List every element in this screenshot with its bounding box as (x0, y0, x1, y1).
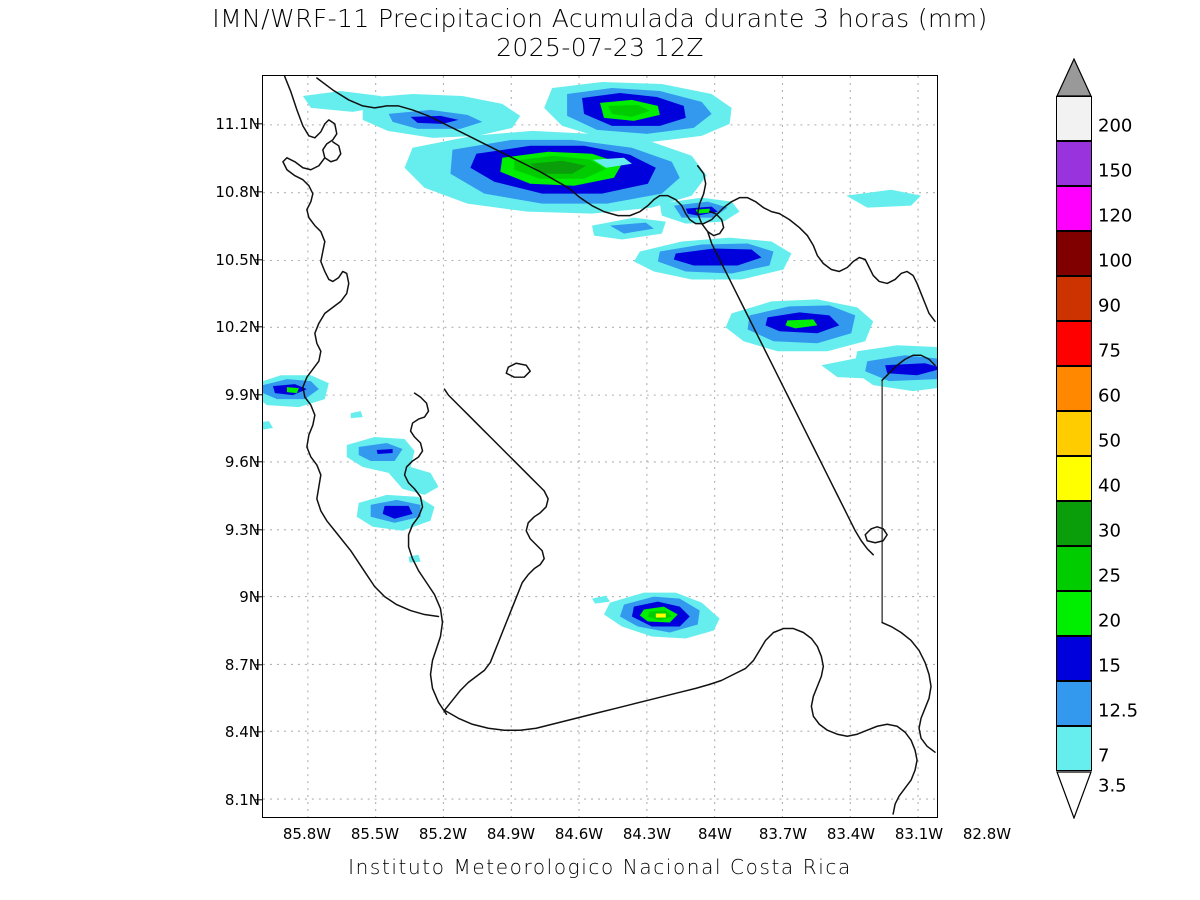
colorbar-under-arrow-icon (1056, 771, 1092, 819)
colorbar-segment-200 (1056, 96, 1092, 141)
colorbar-label-30: 30 (1098, 521, 1121, 542)
colorbar-label-90: 90 (1098, 296, 1121, 317)
colorbar-label-200: 200 (1098, 116, 1132, 137)
colorbar-segment-75 (1056, 321, 1092, 366)
colorbar-label-150: 150 (1098, 161, 1132, 182)
x-axis: 85.8W 85.5W 85.2W 84.9W 84.6W 84.3W 84W … (0, 0, 1200, 900)
colorbar-segment-30 (1056, 501, 1092, 546)
colorbar-label-100: 100 (1098, 251, 1132, 272)
colorbar-label-25: 25 (1098, 566, 1121, 587)
colorbar-segment-100 (1056, 231, 1092, 276)
colorbar-segment-150 (1056, 141, 1092, 186)
colorbar-segment-120 (1056, 186, 1092, 231)
colorbar-segment-15 (1056, 636, 1092, 681)
colorbar-label-50: 50 (1098, 431, 1121, 452)
colorbar-segment-20 (1056, 591, 1092, 636)
colorbar-label-60: 60 (1098, 386, 1121, 407)
colorbar-over-arrow-icon (1056, 58, 1092, 97)
weather-map-page: IMN/WRF-11 Precipitacion Acumulada duran… (0, 0, 1200, 900)
colorbar-segment-50 (1056, 411, 1092, 456)
colorbar-segment-7 (1056, 726, 1092, 771)
colorbar-legend: 200 150 120 100 90 75 60 50 40 30 25 20 … (1056, 96, 1092, 816)
colorbar-label-3-5: 3.5 (1098, 776, 1127, 797)
colorbar-segment-40 (1056, 456, 1092, 501)
colorbar-segment-25 (1056, 546, 1092, 591)
footer-attribution: Instituto Meteorologico Nacional Costa R… (0, 855, 1200, 879)
colorbar-segment-90 (1056, 276, 1092, 321)
colorbar-label-12-5: 12.5 (1098, 701, 1138, 722)
colorbar-label-15: 15 (1098, 656, 1121, 677)
colorbar-segment-60 (1056, 366, 1092, 411)
colorbar-segment-12-5 (1056, 681, 1092, 726)
x-tick-label-10: 82.8W (947, 825, 1027, 843)
colorbar-label-7: 7 (1098, 746, 1109, 767)
colorbar-label-20: 20 (1098, 611, 1121, 632)
colorbar-label-120: 120 (1098, 206, 1132, 227)
colorbar-label-40: 40 (1098, 476, 1121, 497)
colorbar-label-75: 75 (1098, 341, 1121, 362)
